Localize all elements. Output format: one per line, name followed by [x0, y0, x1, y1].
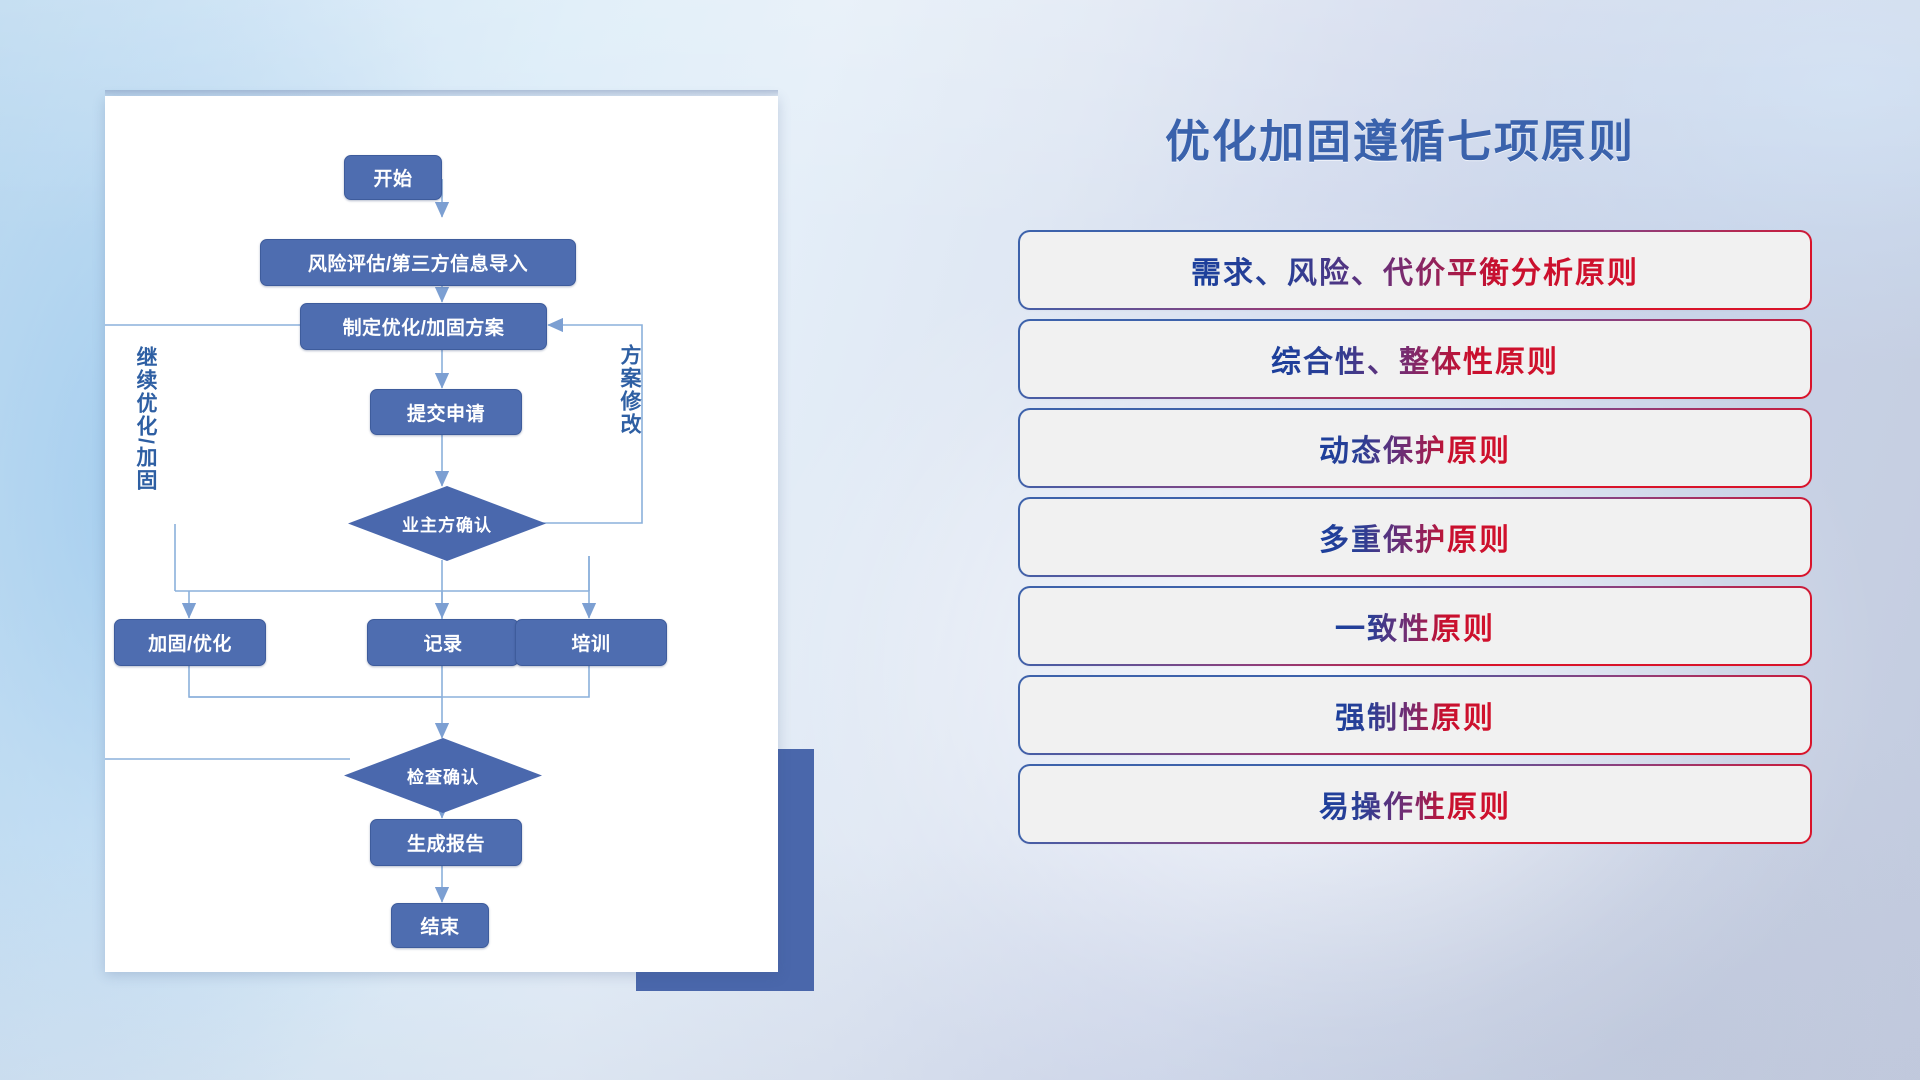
flow-node-risk-assessment[interactable]: 风险评估/第三方信息导入 — [260, 239, 576, 286]
flow-node-plan[interactable]: 制定优化/加固方案 — [300, 303, 547, 350]
principle-label: 强制性原则 — [1335, 693, 1495, 737]
flow-node-submit-application[interactable]: 提交申请 — [370, 389, 522, 435]
edge-label-plan-revision: 方案修改 — [614, 344, 644, 436]
principle-label: 一致性原则 — [1335, 604, 1495, 648]
flow-node-training[interactable]: 培训 — [515, 619, 667, 666]
principle-item-3[interactable]: 动态保护原则 — [1020, 410, 1810, 486]
flow-node-start[interactable]: 开始 — [344, 155, 442, 200]
principle-item-2[interactable]: 综合性、整体性原则 — [1020, 321, 1810, 397]
flowchart-panel: 开始 风险评估/第三方信息导入 制定优化/加固方案 提交申请 业主方确认 加固/… — [0, 0, 880, 1080]
edge-label-continue-optimize: 继续优化/加固 — [130, 346, 160, 492]
principle-item-6[interactable]: 强制性原则 — [1020, 677, 1810, 753]
flow-node-owner-confirm[interactable]: 业主方确认 — [348, 486, 546, 561]
principle-label: 综合性、整体性原则 — [1271, 337, 1559, 381]
principle-label: 易操作性原则 — [1319, 782, 1511, 826]
principle-label: 动态保护原则 — [1319, 426, 1511, 470]
principle-item-5[interactable]: 一致性原则 — [1020, 588, 1810, 664]
principle-item-1[interactable]: 需求、风险、代价平衡分析原则 — [1020, 232, 1810, 308]
flow-node-reinforce[interactable]: 加固/优化 — [114, 619, 266, 666]
principles-panel: 优化加固遵循七项原则 需求、风险、代价平衡分析原则 综合性、整体性原则 动态保护… — [880, 0, 1920, 1080]
principles-list: 需求、风险、代价平衡分析原则 综合性、整体性原则 动态保护原则 多重保护原则 一… — [1020, 232, 1810, 855]
principle-label: 需求、风险、代价平衡分析原则 — [1191, 248, 1639, 292]
principle-item-4[interactable]: 多重保护原则 — [1020, 499, 1810, 575]
flow-node-record[interactable]: 记录 — [367, 619, 519, 666]
flowchart-diagram: 开始 风险评估/第三方信息导入 制定优化/加固方案 提交申请 业主方确认 加固/… — [105, 96, 778, 972]
flow-node-end[interactable]: 结束 — [391, 903, 489, 948]
principle-label: 多重保护原则 — [1319, 515, 1511, 559]
flow-node-generate-report[interactable]: 生成报告 — [370, 819, 522, 866]
page-title: 优化加固遵循七项原则 — [880, 105, 1920, 170]
principle-item-7[interactable]: 易操作性原则 — [1020, 766, 1810, 842]
flow-node-check-confirm[interactable]: 检查确认 — [344, 738, 542, 813]
